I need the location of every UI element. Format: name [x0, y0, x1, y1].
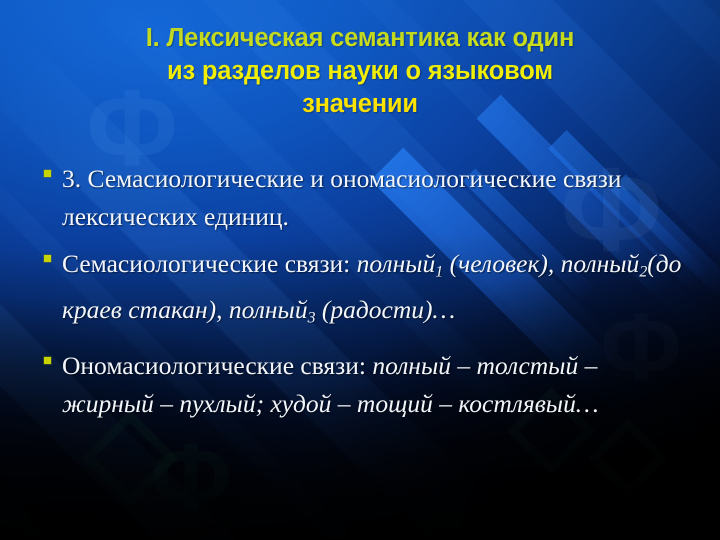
slide-title-line: из разделов науки о языковом [167, 57, 553, 85]
presentation-slide: Ф Ф Ф Ф I. Лексическая семантика как оди… [0, 0, 720, 540]
square-bullet-icon [44, 170, 51, 177]
bullet-text: Семасиологические связи: полный1 (челове… [62, 245, 688, 338]
bullet-item: Семасиологические связи: полный1 (челове… [40, 245, 688, 338]
bullet-item: Ономасиологические связи: полный – толст… [40, 347, 688, 423]
bullet-text: Ономасиологические связи: полный – толст… [62, 347, 688, 423]
bullet-item: 3. Семасиологические и ономасиологически… [40, 160, 688, 236]
slide-body: 3. Семасиологические и ономасиологически… [40, 160, 688, 432]
slide-title-line: I. Лексическая семантика как один [146, 24, 574, 52]
slide-title-line: значении [302, 90, 418, 118]
bullet-text: 3. Семасиологические и ономасиологически… [62, 160, 688, 236]
square-bullet-icon [44, 357, 51, 364]
square-bullet-icon [44, 255, 51, 262]
slide-title: I. Лексическая семантика как один из раз… [42, 22, 678, 121]
